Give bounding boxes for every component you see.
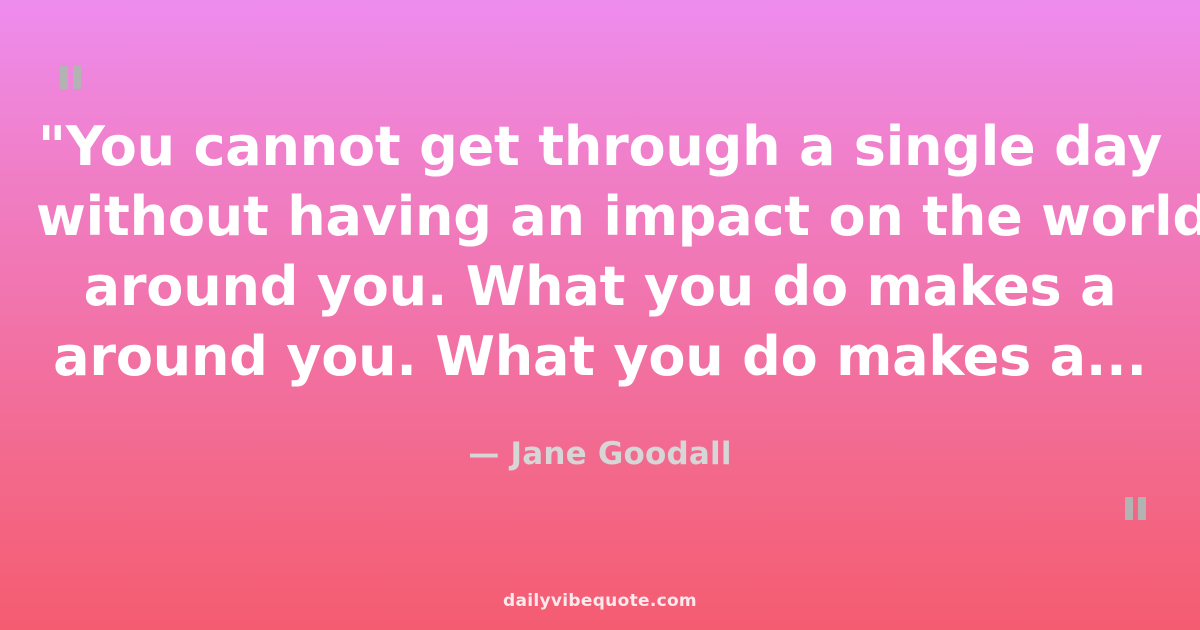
quote-line: around you. What you do makes a... [36,322,1164,392]
site-watermark: dailyvibequote.com [0,590,1200,612]
quote-card: "You cannot get through a single day wit… [0,0,1200,630]
quote-line: without having an impact on the world [36,182,1164,252]
quote-bar-left [60,66,68,89]
quote-mark-close-icon [1125,497,1146,520]
quote-line: around you. What you do makes a [36,252,1164,322]
quote-bar-right [1138,497,1146,520]
quote-text: "You cannot get through a single day wit… [36,112,1164,392]
quote-bar-left [1125,497,1133,520]
quote-attribution: — Jane Goodall [0,434,1200,474]
quote-mark-open-icon [60,66,81,89]
quote-line: "You cannot get through a single day [36,112,1164,182]
quote-bar-right [73,66,81,89]
